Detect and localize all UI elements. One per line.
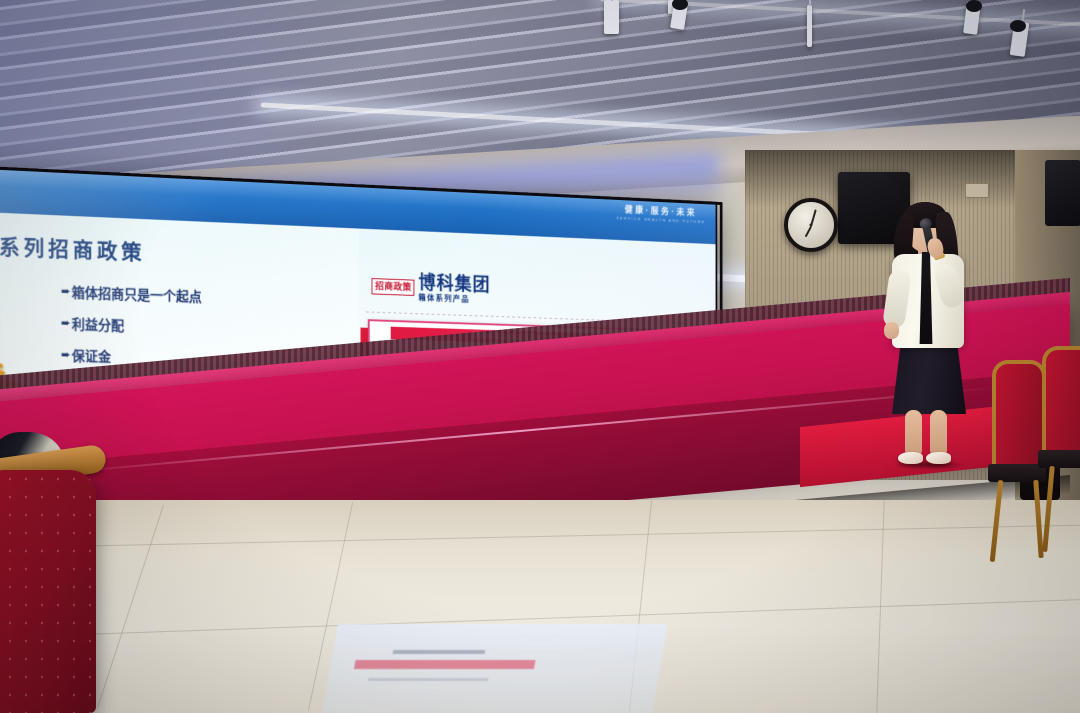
logo-company-name: 博科集团 — [418, 274, 490, 295]
logo-badge-line1: 招商政策 — [375, 281, 411, 293]
presenter-leg — [905, 410, 922, 458]
pendant-rod — [807, 5, 812, 47]
spotlight-head — [966, 0, 982, 12]
slide-header-tagline: 健康·服务·未来 SERVICE HEALTH AND FUTURE — [616, 202, 705, 224]
slide-reflection-on-floor — [322, 624, 668, 713]
spotlight-head — [1010, 20, 1026, 32]
brand-logo: 招商政策 博科集团 箱体系列产品 — [372, 272, 491, 304]
logo-badge: 招商政策 — [372, 278, 415, 296]
presenter-hand-left — [884, 322, 899, 339]
chair-back — [1042, 346, 1080, 462]
arrow-bullet-icon: ➨ — [61, 347, 68, 361]
wall-clock — [784, 198, 838, 252]
bullet-label: 箱体招商只是一个起点 — [72, 281, 202, 305]
arrow-bullet-icon: ➨ — [61, 316, 68, 330]
presenter-shoe — [926, 452, 951, 464]
slide-left-title: 箱系列招商政策 — [0, 230, 145, 267]
presenter-leg — [930, 410, 947, 458]
speaker-icon — [1045, 160, 1080, 226]
conference-scene: 箱系列招商政策 ➨ 箱体招商只是一个起点 ➨ 利益分配 ➨ 保证金 — [0, 0, 1080, 713]
bullet-label: 利益分配 — [72, 313, 124, 334]
presenter-shoe — [898, 452, 923, 464]
chair-seat — [1038, 450, 1080, 468]
logo-product-line: 箱体系列产品 — [418, 294, 490, 304]
list-item: ➨ 箱体招商只是一个起点 — [61, 281, 202, 306]
list-item: ➨ 利益分配 — [61, 313, 202, 337]
clock-center-pin — [810, 224, 813, 227]
pendant-spotlight — [604, 0, 619, 34]
foreground-banquet-chair[interactable] — [0, 470, 96, 713]
clock-hour-hand — [804, 226, 812, 238]
presenter — [872, 196, 982, 468]
arrow-bullet-icon: ➨ — [61, 284, 68, 298]
bullet-label: 保证金 — [72, 345, 111, 366]
presenter-skirt — [892, 342, 966, 414]
